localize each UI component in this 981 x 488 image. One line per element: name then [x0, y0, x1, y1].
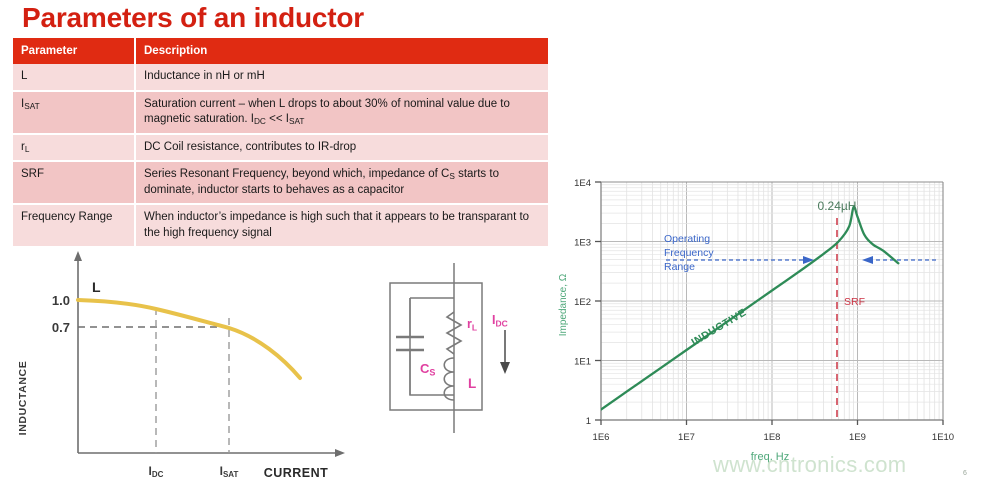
annotation-srf: SRF	[844, 296, 865, 308]
ofr-line-3: Range	[664, 261, 695, 273]
page-number: 6	[963, 470, 967, 477]
axes	[74, 251, 345, 457]
cell-parameter: SRF	[13, 161, 135, 204]
inductance-curve-label: L	[92, 279, 101, 295]
cell-parameter: L	[13, 64, 135, 91]
label-cs: CS	[420, 361, 435, 378]
x-tick-label: 1E10	[932, 432, 954, 443]
header-description: Description	[135, 38, 548, 64]
inductance-ytick-1: 1.0	[52, 293, 70, 308]
ofr-line-2: Frequency	[664, 247, 714, 259]
cell-parameter: ISAT	[13, 91, 135, 134]
table-row: LInductance in nH or mH	[13, 64, 548, 91]
cell-description: Saturation current – when L drops to abo…	[135, 91, 548, 134]
x-tick-label: 1E6	[593, 432, 610, 443]
y-tick-label: 1E1	[574, 357, 591, 368]
inductor-symbol	[444, 358, 454, 400]
label-idc: IDC	[492, 313, 508, 329]
circuit-diagram-svg: rL CS L IDC	[382, 258, 562, 463]
guide-lines	[78, 308, 229, 453]
cell-description: Inductance in nH or mH	[135, 64, 548, 91]
parallel-branch-wire	[410, 298, 454, 395]
parameters-table: Parameter Description LInductance in nH …	[13, 38, 548, 248]
ofr-line-1: Operating	[664, 233, 710, 245]
y-tick-label: 1E3	[574, 238, 591, 249]
table-header-row: Parameter Description	[13, 38, 548, 64]
impedance-vs-frequency-chart: 11E11E21E31E4 1E61E71E81E91E10 0.24µH Op…	[548, 160, 981, 483]
inductance-y-axis-label: INDUCTANCE	[17, 361, 29, 436]
watermark: www.cntronics.com	[713, 452, 906, 478]
inductance-curve	[78, 300, 300, 378]
cell-parameter: Frequency Range	[13, 204, 135, 247]
table-row: Frequency RangeWhen inductor’s impedance…	[13, 204, 548, 247]
cell-description: Series Resonant Frequency, beyond which,…	[135, 161, 548, 204]
label-l: L	[468, 376, 476, 391]
cell-description: DC Coil resistance, contributes to IR-dr…	[135, 134, 548, 162]
y-tick-label: 1	[586, 416, 591, 427]
y-tick-label: 1E4	[574, 178, 591, 189]
x-tick-label: 1E9	[849, 432, 866, 443]
inductor-circuit-diagram: rL CS L IDC	[382, 258, 562, 463]
table-row: SRFSeries Resonant Frequency, beyond whi…	[13, 161, 548, 204]
table-body: LInductance in nH or mHISATSaturation cu…	[13, 64, 548, 247]
label-rl: rL	[467, 317, 477, 333]
cell-description: When inductor’s impedance is high such t…	[135, 204, 548, 247]
impedance-y-axis-label: Impedance, Ω	[558, 273, 569, 336]
annotation-peak-inductance: 0.24µH	[818, 199, 857, 213]
x-tick-label: 1E8	[764, 432, 781, 443]
y-tick-label: 1E2	[574, 297, 591, 308]
header-parameter: Parameter	[13, 38, 135, 64]
inductance-xtick-idc: IDC	[149, 464, 164, 479]
inductance-vs-current-chart: 1.0 0.7 L INDUCTANCE IDC ISAT CURRENT	[0, 248, 380, 483]
inductance-x-axis-label: CURRENT	[264, 466, 329, 480]
impedance-chart-svg: 11E11E21E31E4 1E61E71E81E91E10 0.24µH Op…	[548, 160, 981, 483]
x-tick-label: 1E7	[678, 432, 695, 443]
table-row: ISATSaturation current – when L drops to…	[13, 91, 548, 134]
y-axis-ticks: 11E11E21E31E4	[574, 178, 601, 427]
x-axis-ticks: 1E61E71E81E91E10	[593, 420, 955, 443]
inductance-chart-svg: 1.0 0.7 L INDUCTANCE IDC ISAT CURRENT	[0, 248, 380, 483]
inductance-ytick-0p7: 0.7	[52, 320, 70, 335]
page-title: Parameters of an inductor	[22, 2, 364, 34]
cell-parameter: rL	[13, 134, 135, 162]
idc-arrow	[500, 330, 510, 374]
inductance-xtick-isat: ISAT	[220, 464, 239, 479]
table-row: rLDC Coil resistance, contributes to IR-…	[13, 134, 548, 162]
